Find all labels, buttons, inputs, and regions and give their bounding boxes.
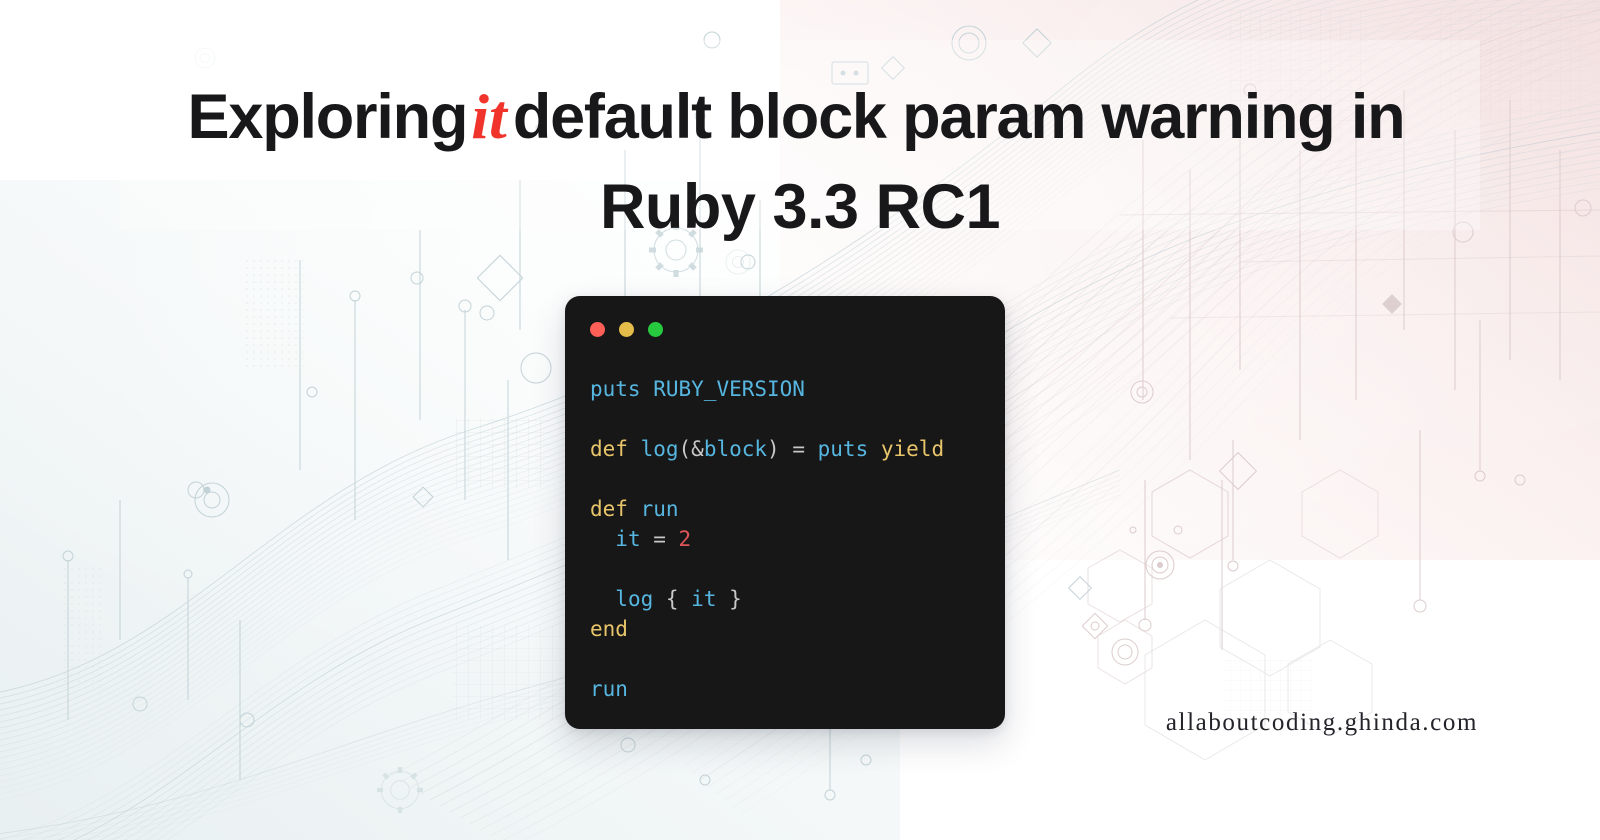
code-token	[868, 437, 881, 461]
code-token: {	[653, 587, 691, 611]
code-token: it	[615, 527, 640, 551]
code-token: (&	[679, 437, 704, 461]
code-token: puts	[590, 377, 641, 401]
code-line: log { it }	[590, 584, 995, 614]
code-token: run	[590, 677, 628, 701]
code-line	[590, 404, 995, 434]
code-token	[628, 497, 641, 521]
code-token: it	[691, 587, 716, 611]
window-close-icon[interactable]	[590, 322, 605, 337]
code-line	[590, 644, 995, 674]
code-window: puts RUBY_VERSION def log(&block) = puts…	[565, 296, 1005, 729]
title-keyword-it: it	[467, 81, 513, 152]
title-part-2: default block param warning in	[513, 82, 1405, 152]
code-line	[590, 464, 995, 494]
code-token: 2	[679, 527, 692, 551]
code-line: it = 2	[590, 524, 995, 554]
code-token: def	[590, 497, 628, 521]
code-block: puts RUBY_VERSION def log(&block) = puts…	[590, 374, 995, 704]
code-token	[590, 587, 615, 611]
title-part-1: Exploring	[188, 82, 468, 152]
window-minimize-icon[interactable]	[619, 322, 634, 337]
title-line-2: Ruby 3.3 RC1	[0, 162, 1600, 252]
code-token: )	[767, 437, 780, 461]
code-token: yield	[881, 437, 944, 461]
code-token: log	[641, 437, 679, 461]
code-token	[590, 527, 615, 551]
code-line	[590, 554, 995, 584]
site-url: allaboutcoding.ghinda.com	[1166, 709, 1478, 737]
code-token	[641, 377, 654, 401]
code-line: def run	[590, 494, 995, 524]
code-line: def log(&block) = puts yield	[590, 434, 995, 464]
code-token: def	[590, 437, 628, 461]
code-token: RUBY_VERSION	[653, 377, 805, 401]
code-token: run	[641, 497, 679, 521]
code-line: run	[590, 674, 995, 704]
code-token: block	[704, 437, 767, 461]
code-token: }	[716, 587, 741, 611]
code-token: log	[615, 587, 653, 611]
slide-canvas: Exploringitdefault block param warning i…	[0, 0, 1600, 840]
window-maximize-icon[interactable]	[648, 322, 663, 337]
slide-title: Exploringitdefault block param warning i…	[0, 72, 1600, 252]
code-token: =	[780, 437, 818, 461]
code-token	[628, 437, 641, 461]
code-line: end	[590, 614, 995, 644]
window-traffic-lights	[590, 322, 663, 337]
code-token: puts	[818, 437, 869, 461]
code-token: end	[590, 617, 628, 641]
code-line: puts RUBY_VERSION	[590, 374, 995, 404]
title-line-1: Exploringitdefault block param warning i…	[0, 72, 1600, 162]
code-token: =	[641, 527, 679, 551]
